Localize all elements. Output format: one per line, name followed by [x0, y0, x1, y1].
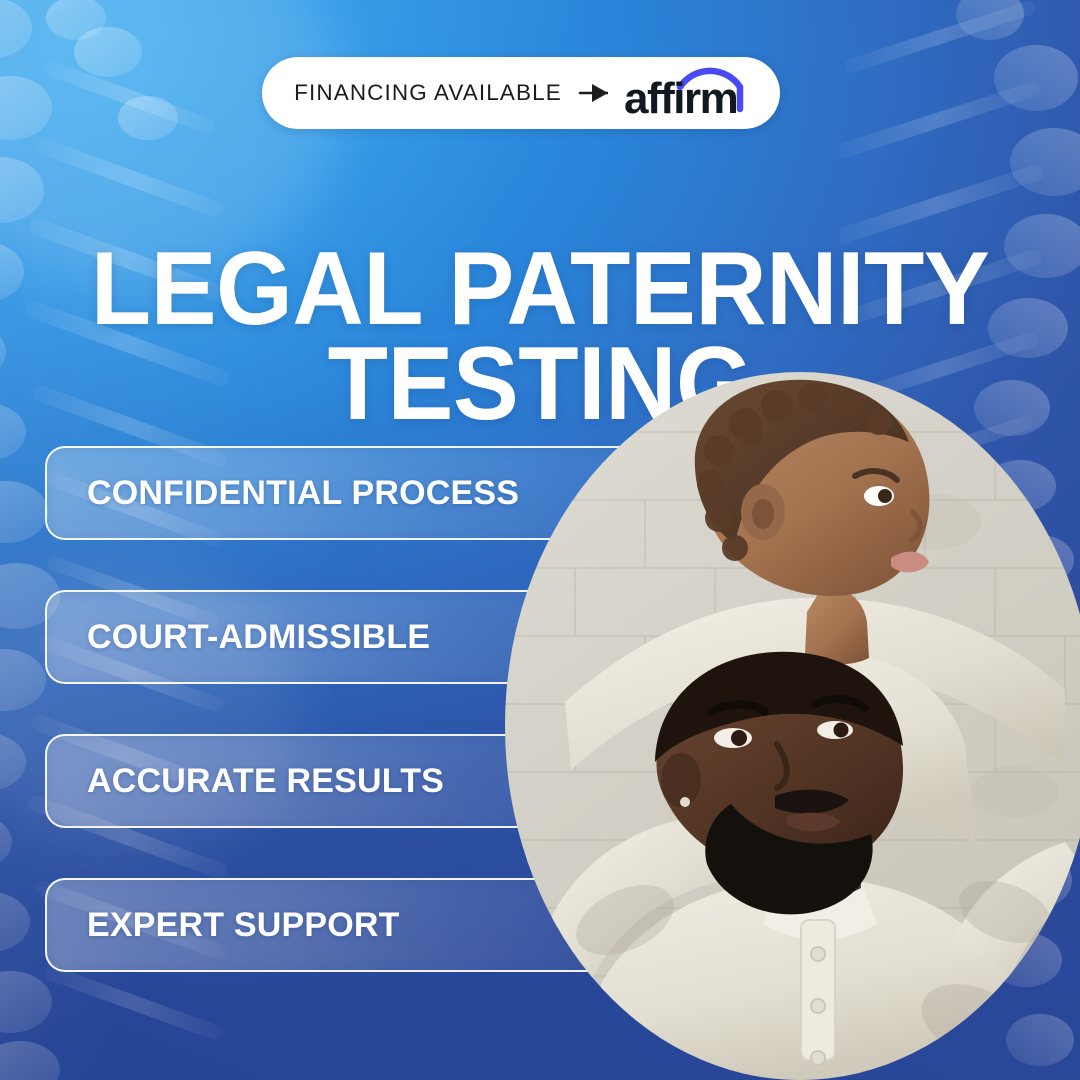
feature-pill-label: CONFIDENTIAL PROCESS	[47, 474, 519, 513]
affirm-logo: affirm	[624, 65, 748, 121]
father-and-child-photo	[505, 372, 1080, 1080]
poster-canvas: FINANCING AVAILABLE affirm LEGAL PATERNI…	[0, 0, 1080, 1080]
arrow-right-icon	[578, 82, 608, 104]
hero-photo-circle	[505, 372, 1080, 1080]
feature-pill-label: EXPERT SUPPORT	[47, 906, 400, 945]
badge-label: FINANCING AVAILABLE	[294, 80, 562, 106]
feature-pill-label: COURT-ADMISSIBLE	[47, 618, 430, 657]
financing-available-badge[interactable]: FINANCING AVAILABLE affirm	[262, 57, 780, 129]
svg-text:affirm: affirm	[624, 74, 737, 121]
feature-pill-label: ACCURATE RESULTS	[47, 762, 444, 801]
